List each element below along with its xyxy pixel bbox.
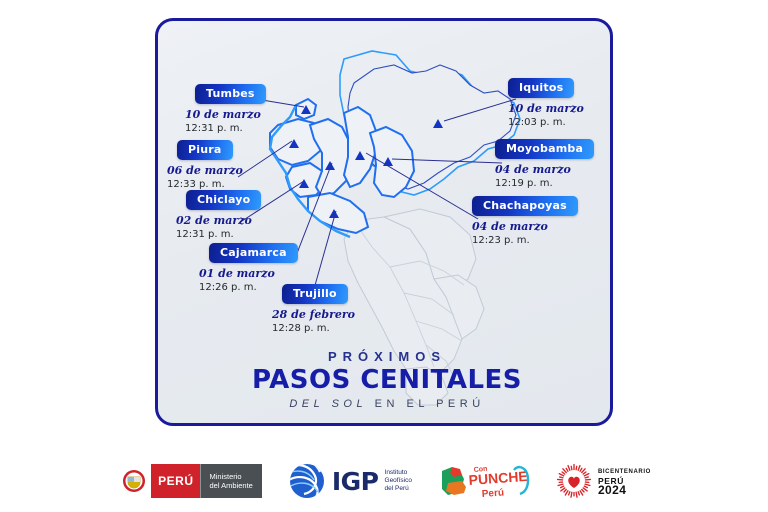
city-badge[interactable]: Moyobamba: [495, 139, 594, 159]
city-badge[interactable]: Chiclayo: [186, 190, 261, 210]
bicentenario-sun-icon: [556, 463, 592, 499]
city-time: 12:31 p. m.: [176, 229, 261, 241]
minam-ministry-label: Ministerio del Ambiente: [200, 464, 261, 498]
minam-peru-label: PERÚ: [151, 464, 200, 498]
city-time: 12:03 p. m.: [508, 117, 584, 129]
city-block-piura: Piura06 de marzo12:33 p. m.: [167, 140, 243, 191]
title-main: PASOS CENITALES: [158, 366, 613, 395]
city-badge[interactable]: Tumbes: [195, 84, 266, 104]
punche-peru-shape-icon: [442, 467, 466, 495]
punche-line2: PUNCHE: [468, 468, 528, 488]
city-date: 10 de marzo: [185, 108, 266, 121]
map-highlighted-departments: [270, 99, 414, 233]
city-date: 04 de marzo: [495, 163, 594, 176]
igp-sub2: Geofísico: [385, 477, 412, 485]
cenital-arrow-markers: [289, 105, 443, 218]
city-time: 12:23 p. m.: [472, 235, 578, 247]
logo-minam: PERÚ Ministerio del Ambiente: [117, 464, 262, 498]
title-subtitle-italic: DEL SOL: [289, 398, 367, 410]
title-subtitle: DEL SOL EN EL PERÚ: [158, 397, 613, 412]
city-block-trujillo: Trujillo28 de febrero12:28 p. m.: [272, 284, 355, 335]
peru-coat-of-arms-icon: [117, 464, 151, 498]
city-time: 12:19 p. m.: [495, 178, 594, 190]
city-block-iquitos: Iquitos10 de marzo12:03 p. m.: [508, 78, 584, 129]
city-badge[interactable]: Iquitos: [508, 78, 574, 98]
infographic-root: PRÓXIMOS PASOS CENITALES DEL SOL EN EL P…: [0, 0, 768, 512]
minam-line1: Ministerio: [209, 472, 252, 481]
city-date: 06 de marzo: [167, 164, 243, 177]
city-date: 28 de febrero: [272, 308, 355, 321]
footer-logo-bar: PERÚ Ministerio del Ambiente: [0, 452, 768, 510]
city-badge[interactable]: Piura: [177, 140, 233, 160]
igp-globe-icon: [288, 462, 328, 500]
city-date: 04 de marzo: [472, 220, 578, 233]
logo-bicentenario: BICENTENARIO PERÚ 2024: [556, 463, 651, 499]
city-badge[interactable]: Cajamarca: [209, 243, 298, 263]
logo-igp: IGP Instituto Geofísico del Perú: [288, 462, 412, 500]
igp-sub3: del Perú: [385, 485, 412, 493]
minam-line2: del Ambiente: [209, 481, 252, 490]
city-date: 10 de marzo: [508, 102, 584, 115]
logo-con-punche-peru: Con PUNCHE Perú: [438, 461, 530, 501]
bicentenario-text: BICENTENARIO PERÚ 2024: [598, 468, 651, 495]
city-time: 12:28 p. m.: [272, 323, 355, 335]
city-block-moyobamba: Moyobamba04 de marzo12:19 p. m.: [495, 139, 594, 190]
punche-line3: Perú: [481, 487, 504, 500]
city-date: 01 de marzo: [199, 267, 298, 280]
title-subtitle-rest: EN EL PERÚ: [375, 398, 485, 410]
city-time: 12:31 p. m.: [185, 123, 266, 135]
igp-fullname: Instituto Geofísico del Perú: [385, 469, 412, 493]
city-block-chiclayo: Chiclayo02 de marzo12:31 p. m.: [176, 190, 261, 241]
city-block-tumbes: Tumbes10 de marzo12:31 p. m.: [185, 84, 266, 135]
city-badge[interactable]: Trujillo: [282, 284, 348, 304]
igp-wordmark: IGP: [332, 469, 379, 494]
city-badge[interactable]: Chachapoyas: [472, 196, 578, 216]
map-loreto-region: [348, 65, 516, 189]
city-date: 02 de marzo: [176, 214, 261, 227]
city-block-chachapoyas: Chachapoyas04 de marzo12:23 p. m.: [472, 196, 578, 247]
igp-sub1: Instituto: [385, 469, 412, 477]
title-kicker: PRÓXIMOS: [158, 349, 613, 365]
title-block: PRÓXIMOS PASOS CENITALES DEL SOL EN EL P…: [158, 349, 613, 412]
bicentenario-line3: 2024: [598, 486, 651, 495]
map-coastline: [270, 105, 350, 237]
map-country-outline: [340, 51, 520, 195]
